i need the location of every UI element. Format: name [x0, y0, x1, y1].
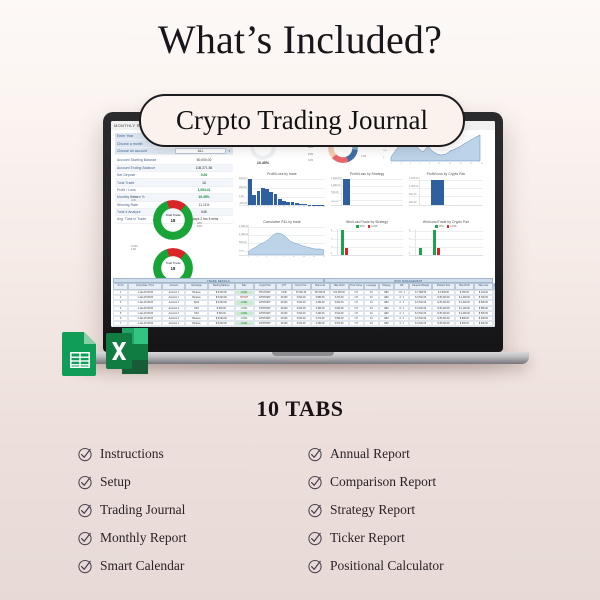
laptop-lid: MONTHLY REPORT Enter Year 2025 Choose a … — [103, 112, 503, 352]
table-cell: $ 3,904.00 — [432, 326, 455, 327]
x-axis-labels: 123456789101112131415161718 — [248, 206, 325, 208]
donut-center-label: Total Trade 18 — [153, 262, 193, 271]
plot-area: 400.00 200.00 0.00 -200.00 — [239, 177, 325, 206]
x-axis-labels: 1357911131517 — [248, 256, 325, 258]
table-cell: 10 — [364, 326, 379, 327]
list-item-label: Smart Calendar — [100, 558, 184, 574]
list-item: Positional Calculator — [308, 552, 522, 580]
list-item: Annual Report — [308, 440, 522, 468]
total-trade-donut-1: Total Trade 18 — [153, 200, 193, 240]
page-title: What’s Included? — [0, 16, 600, 63]
metric-row: Profit / Loss 1,054.41 — [115, 187, 233, 194]
chart-profit-loss-by-crypto-pair: Profit/Loss by Crypto Pair 1,200.00 1,00… — [409, 172, 483, 206]
table-cell: $ 250.00 — [474, 326, 493, 327]
chart-winloss-by-strategy: Win/Loss/Trade by Strategy WIN LOSS 4 3 — [331, 220, 403, 256]
plot-area: 4 3 2 1 — [409, 229, 483, 256]
table-cell: 97,620.30 — [292, 326, 311, 327]
table-body: 11-Jan-25 09:00Account 1Binance$ 5,000.0… — [113, 290, 493, 327]
check-circle-icon — [308, 475, 323, 490]
list-item: Smart Calendar — [78, 552, 292, 580]
chart-profit-loss-by-trade: Profit/Loss by trade 400.00 200.00 0.00 … — [239, 172, 325, 208]
table-cell: $ 5,000.00 — [208, 326, 235, 327]
plot-area: 1,500.00 1,000.00 500.00 0.00 — [239, 225, 325, 256]
chart-cumulative-pnl-by-trade: Cumulative P&L by trade 1,500.00 1,000.0… — [239, 220, 325, 258]
bar-series — [419, 229, 482, 255]
chart-profit-loss-by-strategy: Profit/Loss by Strategy 1,200.00 1,000.0… — [331, 172, 403, 206]
list-item-label: Positional Calculator — [330, 558, 444, 574]
metric-row: Account Ending Balance 108,371.56 — [115, 165, 233, 172]
table-row: 81-Jan-25 09:00Account 3OKX$ 5,000.00SHO… — [113, 326, 493, 327]
list-item-label: Ticker Report — [330, 530, 405, 546]
trades-table[interactable]: TRADE DETAILS RISK MANAGEMENT Sr No Entr… — [113, 278, 493, 327]
plot-area: 1,200.00 1,000.00 700.00 400.00 — [331, 177, 403, 206]
tabs-heading: 10 TABS — [0, 396, 600, 422]
checklist-column-left: InstructionsSetupTrading JournalMonthly … — [78, 440, 292, 580]
checklist-column-right: Annual ReportComparison ReportStrategy R… — [292, 440, 522, 580]
table-cell: $ 3,904.81 — [409, 326, 432, 327]
table-cell: ABC — [379, 326, 394, 327]
list-item-label: Trading Journal — [100, 502, 185, 518]
area-series — [248, 225, 324, 255]
check-circle-icon — [308, 531, 323, 546]
check-circle-icon — [78, 503, 93, 518]
microsoft-excel-icon — [104, 324, 150, 378]
check-circle-icon — [308, 503, 323, 518]
check-circle-icon — [78, 475, 93, 490]
x-axis-labels: 135791113151719 — [391, 163, 483, 165]
plot-area: 1,200.00 1,000.00 600.00 200.00 — [409, 177, 483, 206]
check-circle-icon — [78, 447, 93, 462]
spreadsheet-dashboard: MONTHLY REPORT Enter Year 2025 Choose a … — [111, 121, 495, 327]
table-cell: 98,600.00 — [311, 326, 330, 327]
list-item: Comparison Report — [308, 468, 522, 496]
kpi-ring-value: 10.45% — [247, 161, 279, 165]
list-item-label: Annual Report — [330, 446, 410, 462]
check-circle-icon — [308, 447, 323, 462]
select-account[interactable]: Choose an account ALL — [115, 148, 233, 155]
table-cell: BTC/USDT — [254, 326, 277, 327]
plot-area: 4 3 2 1 — [331, 229, 403, 256]
check-circle-icon — [78, 531, 93, 546]
table-cell: OKX — [185, 326, 208, 327]
metric-row: Net Deposit 0.00 — [115, 172, 233, 179]
table-cell: 2 : 1 — [394, 326, 409, 327]
list-item: Monthly Report — [78, 524, 292, 552]
table-cell: Jan-25 — [493, 326, 495, 327]
check-circle-icon — [308, 559, 323, 574]
list-item: Trading Journal — [78, 496, 292, 524]
list-item-label: Setup — [100, 474, 131, 490]
list-item: Ticker Report — [308, 524, 522, 552]
bar-series — [343, 177, 402, 205]
dashboard-body: Enter Year 2025 Choose a month January C… — [111, 130, 495, 327]
features-checklist: InstructionsSetupTrading JournalMonthly … — [0, 440, 600, 580]
bar-series — [341, 229, 402, 255]
check-circle-icon — [78, 559, 93, 574]
metric-row: Total Trade 18 — [115, 179, 233, 186]
table-cell: SHORT — [235, 326, 254, 327]
bar-series — [431, 177, 482, 205]
laptop-screen: MONTHLY REPORT Enter Year 2025 Choose a … — [111, 121, 495, 327]
metric-row: Account Starting Balance 50,000.00 — [115, 157, 233, 164]
product-title-badge: Crypto Trading Journal — [139, 94, 465, 147]
table-header-row: Sr No Entry Date / Time Account Exchange… — [113, 283, 493, 290]
list-item: Strategy Report — [308, 496, 522, 524]
list-item-label: Instructions — [100, 446, 164, 462]
donut-center-label: Total Trade 18 — [153, 214, 193, 223]
app-icons-group — [60, 324, 170, 380]
table-cell: 95,600.00 — [330, 326, 349, 327]
donut-leader-label: LOSS14% — [131, 245, 138, 251]
table-cell: 0.040 — [276, 326, 291, 327]
list-item: Instructions — [78, 440, 292, 468]
list-item-label: Monthly Report — [100, 530, 187, 546]
list-item: Setup — [78, 468, 292, 496]
bar-series — [248, 177, 324, 205]
list-item-label: Strategy Report — [330, 502, 415, 518]
list-item-label: Comparison Report — [330, 474, 436, 490]
table-cell: $ 500.00 — [455, 326, 474, 327]
donut-leader-label: LOSS16% — [131, 196, 138, 202]
table-cell: 1 H — [349, 326, 364, 327]
poster-canvas: What’s Included? MONTHLY REPORT Enter Ye… — [0, 0, 600, 600]
donut-leader-label: WIN84% — [197, 222, 202, 228]
chart-winloss-by-crypto-pair: Win/Loss/Trade by Crypto Pair WIN LOSS 4… — [409, 220, 483, 256]
google-sheets-icon — [60, 330, 100, 378]
